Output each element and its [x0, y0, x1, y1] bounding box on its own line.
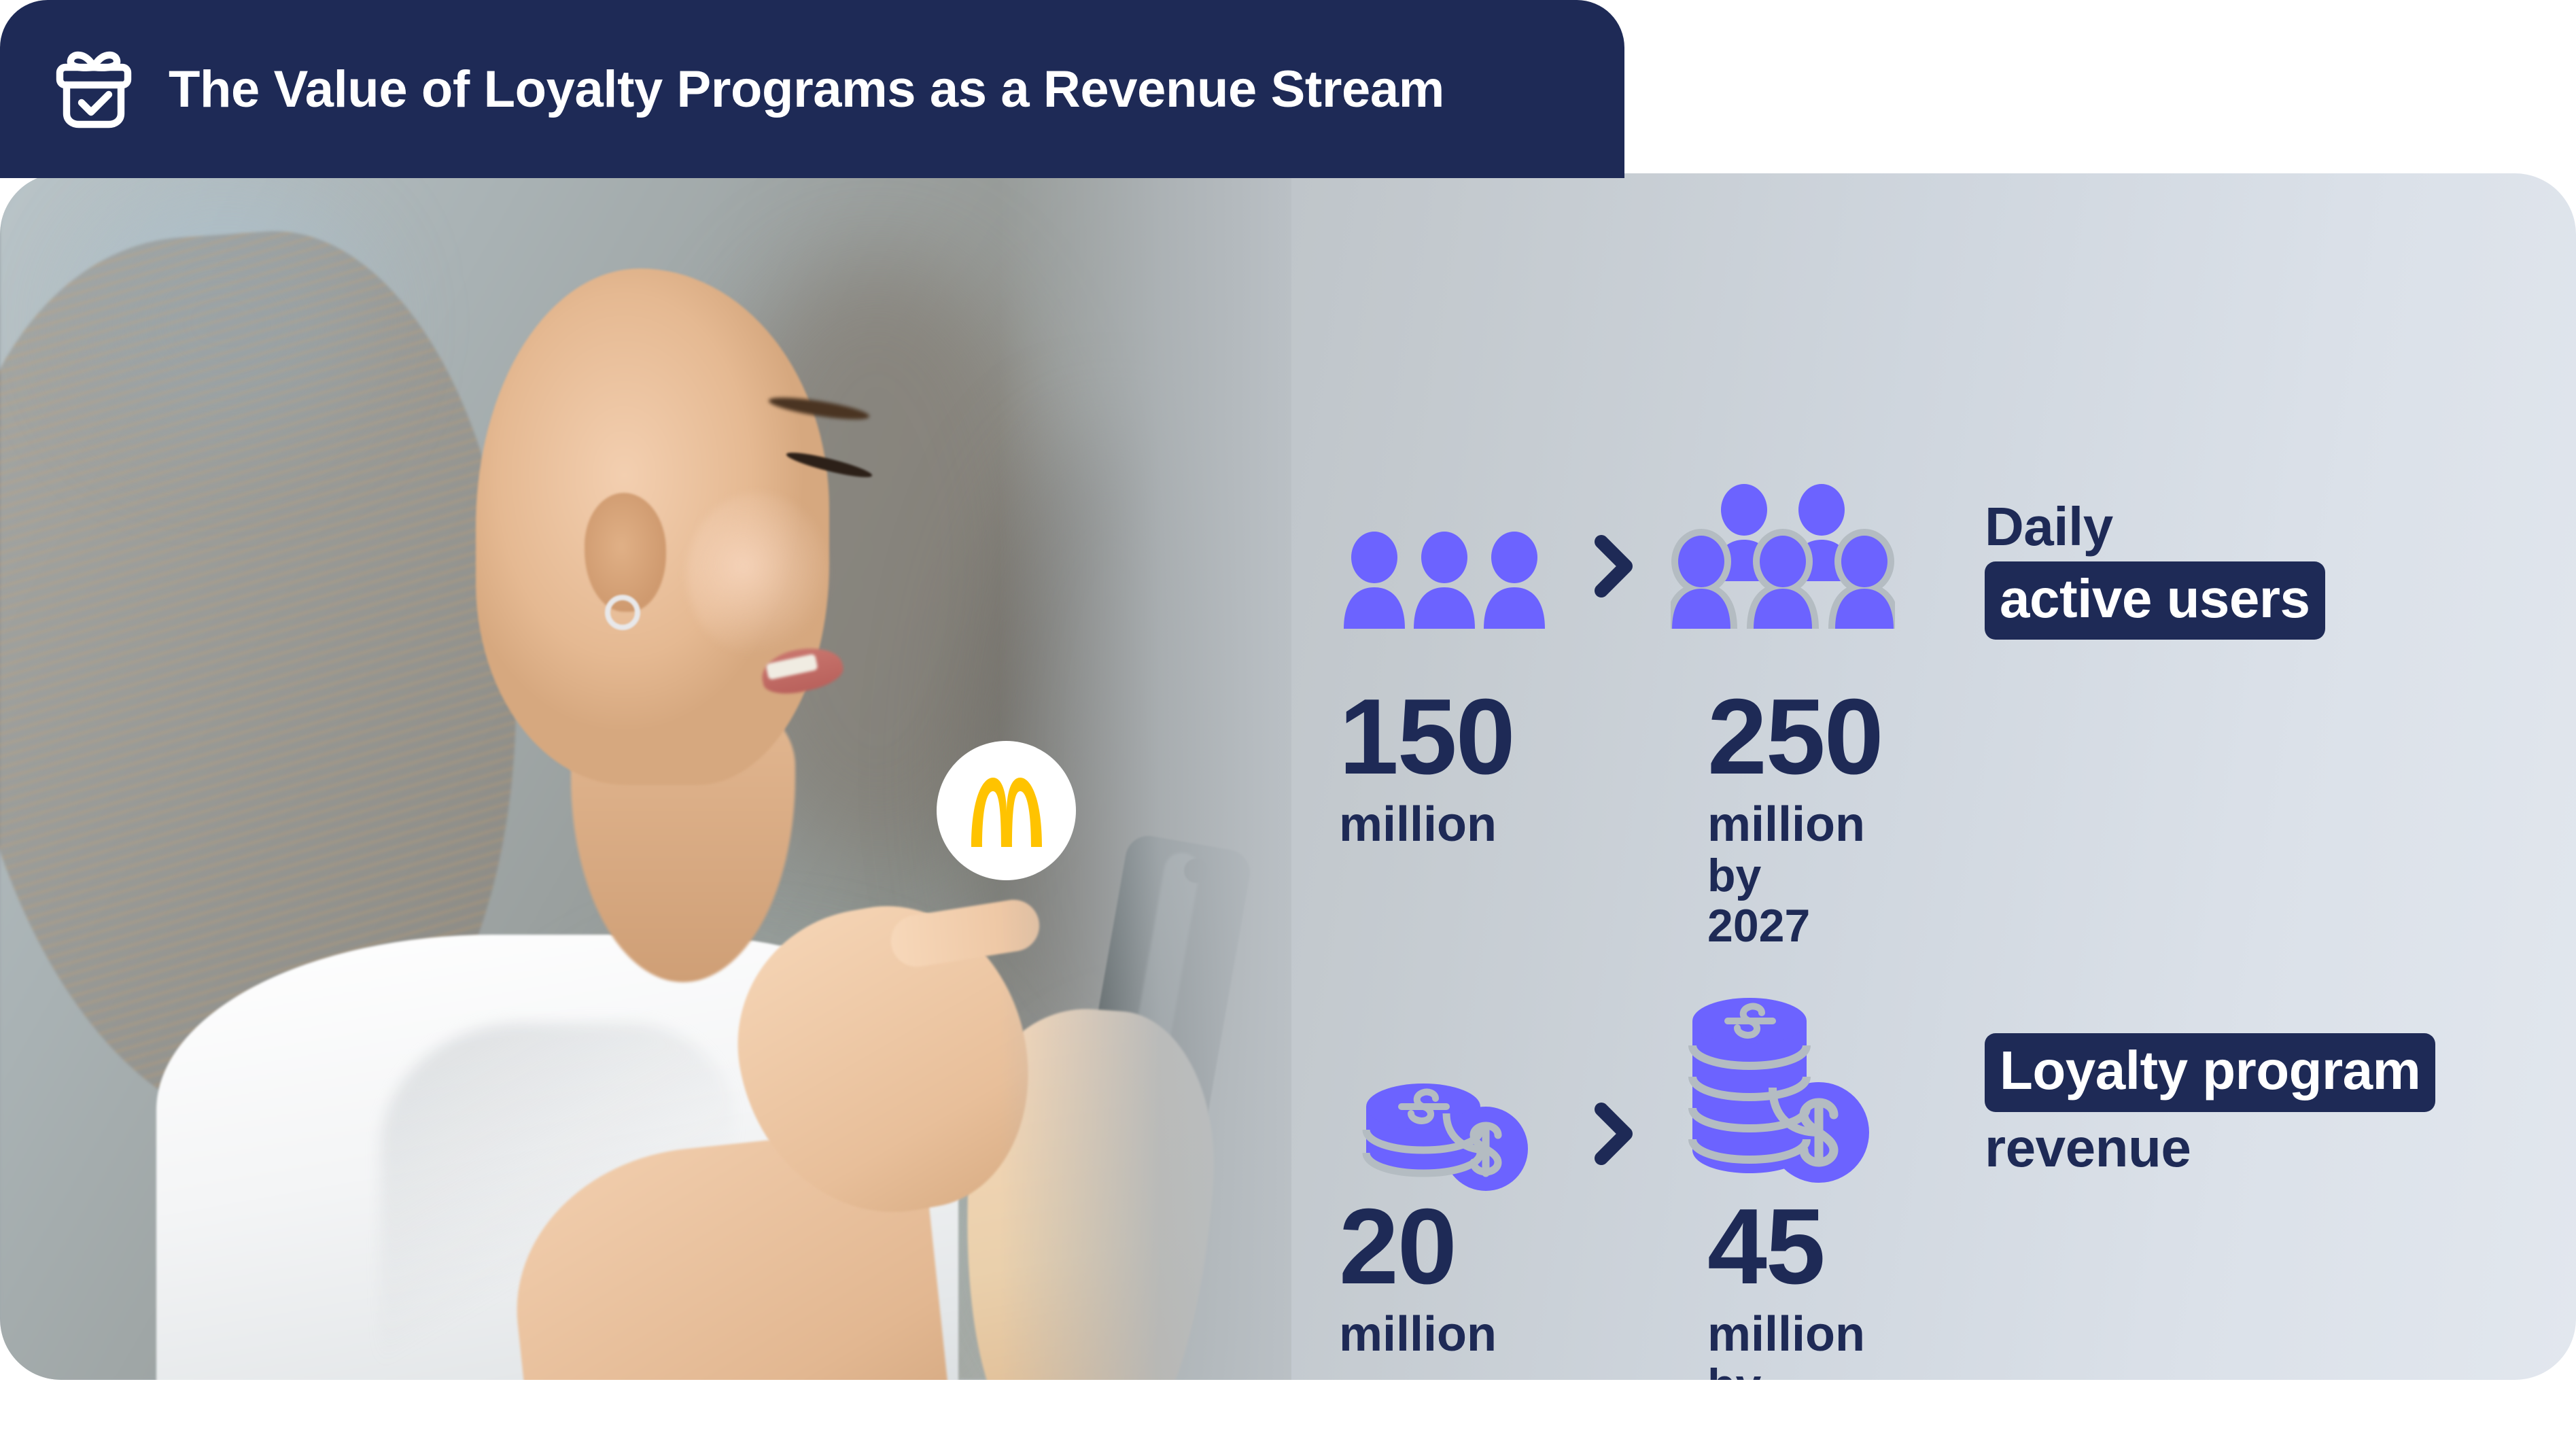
stat-unit: million	[1707, 1308, 1805, 1362]
icon-slot-after	[1671, 992, 1895, 1196]
stat-unit: million	[1707, 799, 1805, 852]
stat-unit: million	[1339, 799, 1556, 852]
stat-label-loyalty-program-revenue: Loyalty program revenue	[1985, 1033, 2515, 1178]
stat-value-before: 20 million	[1332, 1196, 1556, 1380]
mcdonalds-arches-icon	[966, 774, 1047, 848]
person-cheek	[686, 493, 829, 656]
stat-label-line-plain: Daily	[1985, 496, 2515, 557]
stat-row-daily-active-users: 150 million 250 million by 2027 Daily ac…	[1332, 483, 2528, 958]
infographic-card: 150 million 250 million by 2027 Daily ac…	[0, 173, 2576, 1380]
stat-numbers: 150 million 250 million by 2027	[1332, 687, 1805, 951]
stat-number: 250	[1707, 687, 1805, 788]
chevron-separator	[1581, 535, 1646, 629]
stat-number: 45	[1707, 1196, 1805, 1298]
page-title: The Value of Loyalty Programs as a Reven…	[169, 60, 1444, 119]
stat-timeframe: by 2027	[1707, 851, 1805, 951]
hero-photo	[0, 173, 1291, 1380]
coin-stack-small-icon	[1359, 1054, 1529, 1196]
stat-icons	[1332, 992, 1895, 1196]
infographic-stage: 150 million 250 million by 2027 Daily ac…	[0, 0, 2576, 1456]
stats-panel: 150 million 250 million by 2027 Daily ac…	[1332, 483, 2528, 1380]
coin-stack-large-icon	[1684, 992, 1881, 1196]
icon-slot-after	[1671, 483, 1895, 629]
stat-number: 20	[1339, 1196, 1556, 1298]
mcdonalds-logo-badge	[937, 741, 1076, 880]
header-bar: The Value of Loyalty Programs as a Reven…	[0, 0, 1624, 178]
gift-check-icon	[50, 46, 137, 133]
stat-value-after: 45 million by 2027	[1581, 1196, 1805, 1380]
chevron-right-icon	[1593, 1103, 1634, 1165]
icon-slot-before	[1332, 530, 1556, 629]
stat-value-before: 150 million	[1332, 687, 1556, 951]
person-ear	[585, 493, 666, 612]
stat-numbers: 20 million 45 million by 2027	[1332, 1196, 1805, 1380]
stat-label-daily-active-users: Daily active users	[1985, 496, 2515, 640]
stat-number: 150	[1339, 687, 1556, 788]
stat-row-loyalty-program-revenue: 20 million 45 million by 2027 Loyalty pr…	[1332, 992, 2528, 1380]
stat-unit: million	[1339, 1308, 1556, 1362]
chevron-right-icon	[1593, 535, 1634, 597]
stat-label-line-highlight: active users	[1985, 561, 2325, 640]
people-five-icon	[1671, 483, 1895, 629]
stat-icons	[1332, 483, 1895, 629]
stat-timeframe: by 2027	[1707, 1361, 1805, 1380]
stat-label-line-plain: revenue	[1985, 1117, 2515, 1179]
person-earring	[605, 595, 640, 630]
chevron-separator	[1581, 1103, 1646, 1196]
stat-value-after: 250 million by 2027	[1581, 687, 1805, 951]
stat-label-line-highlight: Loyalty program	[1985, 1033, 2435, 1112]
icon-slot-before	[1332, 1054, 1556, 1196]
people-three-icon	[1342, 530, 1546, 629]
